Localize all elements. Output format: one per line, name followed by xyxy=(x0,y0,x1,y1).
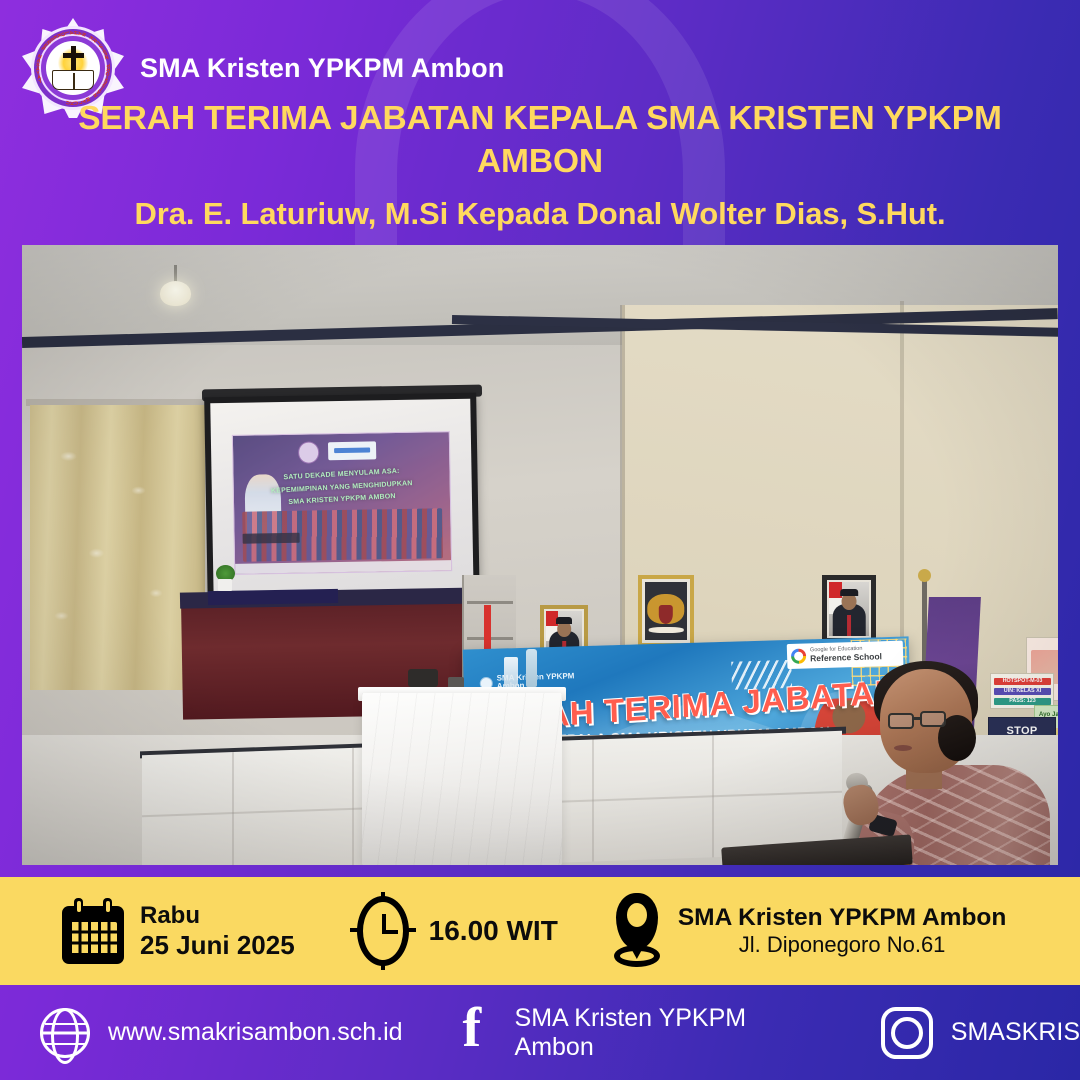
hotspot-line-3: PASS: 123 xyxy=(994,698,1051,705)
garuda-pancasila-emblem xyxy=(638,575,694,647)
venue-address: Jl. Diponegoro No.61 xyxy=(678,932,1007,958)
flag-finial xyxy=(918,569,931,582)
school-name: SMA Kristen YPKPM Ambon xyxy=(140,53,504,84)
draped-table xyxy=(362,693,562,865)
hotspot-card: HOTSPOT-M-03 UIN: KELAS XI PASS: 123 xyxy=(990,673,1054,709)
location-info: SMA Kristen YPKPM Ambon Jl. Diponegoro N… xyxy=(610,893,1007,969)
table-object-dark xyxy=(408,669,438,687)
google-badge-big: Reference School xyxy=(810,652,882,663)
website-label: www.smakrisambon.sch.id xyxy=(108,1018,403,1047)
projector-screen: SATU DEKADE MENYULAM ASA: KEPEMIMPINAN Y… xyxy=(204,393,480,610)
page-subtitle: Dra. E. Laturiuw, M.Si Kepada Donal Wolt… xyxy=(25,196,1055,232)
wakil-presiden-portrait xyxy=(822,575,876,643)
speaker-mouth xyxy=(894,745,912,751)
globe-icon xyxy=(40,1008,90,1058)
hotspot-line-1: HOTSPOT-M-03 xyxy=(994,678,1051,685)
time-info: 16.00 WIT xyxy=(353,894,558,968)
window-curtain xyxy=(30,405,205,690)
event-photo: SATU DEKADE MENYULAM ASA: KEPEMIMPINAN Y… xyxy=(22,245,1058,865)
drinking-glass xyxy=(504,657,518,687)
website-link[interactable]: www.smakrisambon.sch.id xyxy=(40,1008,403,1058)
page-title: SERAH TERIMA JABATAN KEPALA SMA KRISTEN … xyxy=(30,98,1050,183)
date-day: Rabu xyxy=(140,902,295,930)
time-value: 16.00 WIT xyxy=(429,915,558,947)
ceiling-lamp-icon xyxy=(160,281,191,306)
cabinet-cloth xyxy=(208,589,338,605)
footer-social-bar: www.smakrisambon.sch.id f SMA Kristen YP… xyxy=(0,985,1080,1080)
date-info: Rabu 25 Juni 2025 xyxy=(62,898,295,964)
speaker-eyeglasses-left xyxy=(888,713,914,729)
venue-name: SMA Kristen YPKPM Ambon xyxy=(678,904,1007,932)
facebook-link[interactable]: f SMA Kristen YPKPM Ambon xyxy=(463,1004,817,1062)
instagram-label: SMASKRIS xyxy=(951,1018,1080,1047)
map-pin-icon xyxy=(610,893,662,969)
water-bottle xyxy=(526,649,537,687)
projected-slide: SATU DEKADE MENYULAM ASA: KEPEMIMPINAN Y… xyxy=(232,431,453,575)
event-info-bar: Rabu 25 Juni 2025 16.00 WIT SMA Kristen … xyxy=(0,877,1080,985)
hotspot-line-2: UIN: KELAS XI xyxy=(994,688,1051,695)
instagram-link[interactable]: SMASKRIS xyxy=(881,1007,1080,1059)
clock-icon xyxy=(353,894,413,968)
instagram-icon xyxy=(881,1007,933,1059)
google-g-icon xyxy=(791,648,806,663)
date-full: 25 Juni 2025 xyxy=(140,930,295,960)
header: YAYASAN PERSEKOLAHAN KRISTEN PROTESTAN M… xyxy=(0,0,1080,245)
small-plant-pot xyxy=(218,579,232,591)
google-reference-school-badge: Google for Education Reference School xyxy=(787,641,904,669)
facebook-icon: f xyxy=(463,1006,497,1060)
calendar-icon xyxy=(62,898,124,964)
speaker-eyeglasses-right xyxy=(920,711,946,727)
eyeglasses-bridge xyxy=(912,717,922,720)
facebook-label: SMA Kristen YPKPM Ambon xyxy=(515,1004,817,1062)
